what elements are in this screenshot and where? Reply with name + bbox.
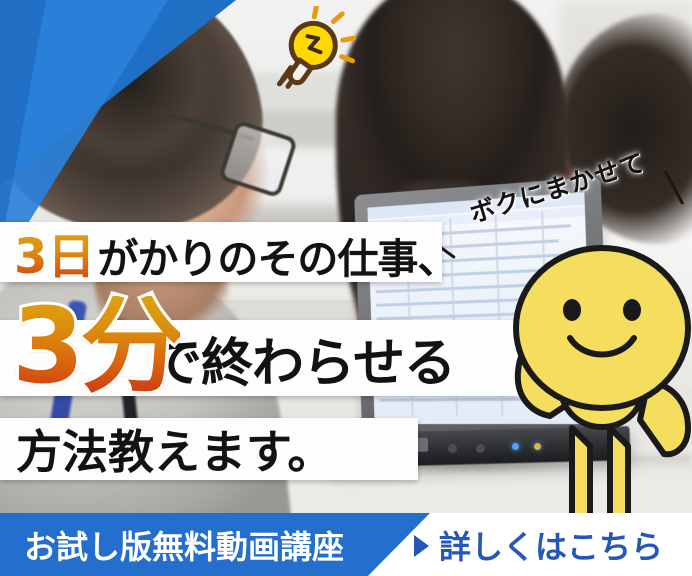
ad-banner[interactable]: ボクにまかせて 3日がかりのその仕事、 で終わらせる 3分 3分 方法教えます。 — [0, 0, 692, 576]
play-triangle-icon — [414, 535, 429, 557]
cta-right-link[interactable]: 詳しくはこちら — [414, 513, 663, 576]
cta-right-label: 詳しくはこちら — [439, 522, 663, 568]
cta-bar[interactable]: お試し版無料動画講座 詳しくはこちら — [0, 513, 692, 576]
headline-highlight-3days: 3日 — [14, 229, 95, 285]
headline-line-3: 方法教えます。 — [0, 416, 333, 482]
cta-left-label[interactable]: お試し版無料動画講座 — [24, 513, 344, 576]
headline-highlight-3min-outline: 3分 — [12, 296, 180, 396]
headline-line-1-rest: がかりのその仕事、 — [97, 235, 457, 283]
headline-line-1: 3日がかりのその仕事、 — [0, 217, 457, 287]
headline-band-3: 方法教えます。 — [0, 418, 418, 480]
headline-band-1: 3日がかりのその仕事、 — [0, 222, 442, 282]
mascot-character — [498, 232, 692, 532]
lightbulb-icon — [258, 6, 362, 90]
